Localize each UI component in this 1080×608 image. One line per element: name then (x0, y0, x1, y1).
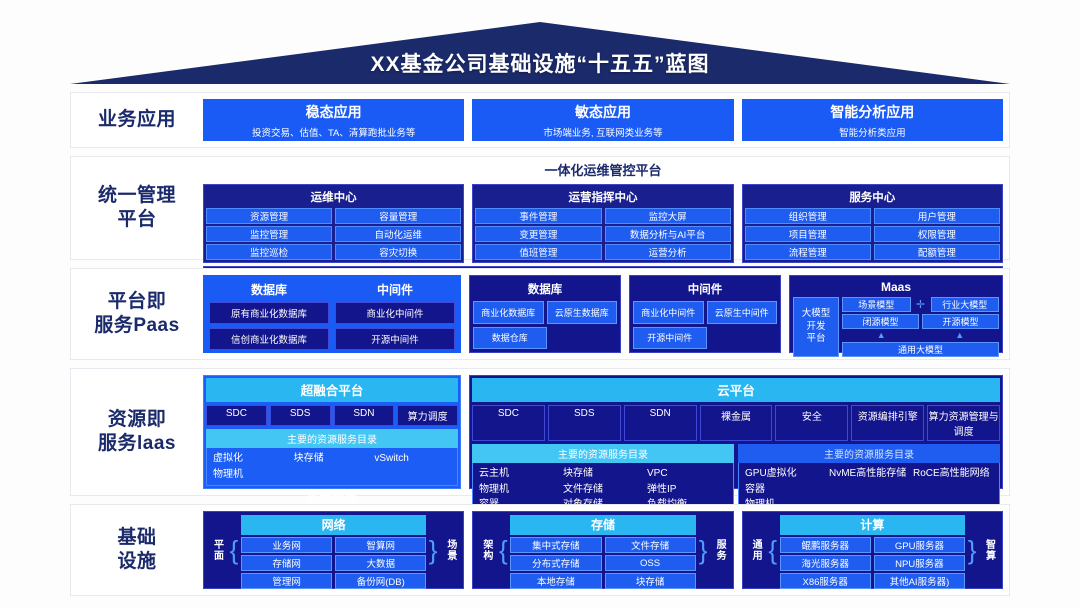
center-chip[interactable]: 资源管理 (206, 208, 332, 224)
infrastructure-body: 平面 { 网络 业务网 智算网 存储网 大数据 管理网 (203, 505, 1009, 595)
row-label-line1: 基础 (117, 526, 156, 550)
maas-item-industry-model[interactable]: 行业大模型 (931, 297, 1000, 312)
infra-chip[interactable]: 集中式存储 (510, 537, 601, 553)
paas-item[interactable]: 数据仓库 (473, 327, 547, 350)
paas-column-title: 中间件 (335, 278, 455, 302)
cloud-capability[interactable]: SDS (548, 405, 621, 441)
brace-left-icon: { (496, 515, 510, 585)
center-chip[interactable]: 值班管理 (475, 244, 601, 260)
row-infrastructure-as-a-service: 资源即 服务laas 超融合平台 SDC SDS SDN 算力调度 主要的资源服… (70, 368, 1010, 496)
paas-column-items: 原有商业化数据库 信创商业化数据库 (209, 302, 329, 350)
cloud-capability-row: SDC SDS SDN 裸金属 安全 资源编排引擎 算力资源管理与调度 (472, 402, 1000, 444)
app-subtitle: 智能分析类应用 (839, 125, 906, 139)
hci-catalog-item: 物理机 (213, 468, 290, 482)
paas-item[interactable]: 商业化中间件 (633, 301, 704, 324)
app-card-stable[interactable]: 稳态应用 投资交易、估值、TA、清算跑批业务等 (203, 99, 464, 141)
cloud-catalog-item: 云主机 (479, 467, 559, 481)
paas-group-row: 商业化中间件 云原生中间件 (633, 301, 777, 324)
center-items: 事件管理 监控大屏 变更管理 数据分析与AI平台 值班管理 运营分析 (475, 208, 730, 260)
title-roof: XX基金公司基础设施“十五五”蓝图 (70, 22, 1010, 84)
infra-row: 鲲鹏服务器 GPU服务器 (780, 537, 965, 553)
iaas-body: 超融合平台 SDC SDS SDN 算力调度 主要的资源服务目录 虚拟化 物理机… (203, 369, 1009, 495)
paas-row-spacer (550, 327, 618, 350)
cloud-capability[interactable]: 算力资源管理与调度 (927, 405, 1000, 441)
maas-side-line3: 平台 (802, 333, 831, 346)
cloud-capability[interactable]: SDN (624, 405, 697, 441)
paas-item[interactable]: 商业化中间件 (335, 302, 455, 324)
infra-title: 存储 (510, 515, 695, 535)
paas-group-row: 数据仓库 (473, 327, 617, 350)
hci-catalog-column: 虚拟化 物理机 (213, 452, 290, 481)
center-chip[interactable]: 容灾切换 (335, 244, 461, 260)
infra-storage-content: 存储 集中式存储 文件存储 分布式存储 OSS 本地存储 块存储 (510, 515, 695, 585)
infra-row: 分布式存储 OSS (510, 555, 695, 571)
infra-left-label: 通用 (746, 515, 766, 585)
maas-row-source: 闭源模型 开源模型 (842, 314, 999, 329)
center-row: 值班管理 运营分析 (475, 244, 730, 260)
maas-body: 大模型 开发 平台 场景模型 ✛ 行业大模型 闭源模型 (793, 297, 999, 357)
paas-group-row: 开源中间件 (633, 327, 777, 350)
paas-database-group: 数据库 商业化数据库 云原生数据库 数据仓库 (469, 275, 621, 353)
hci-capability-row: SDC SDS SDN 算力调度 (206, 402, 458, 429)
infra-items: 鲲鹏服务器 GPU服务器 海光服务器 NPU服务器 X86服务器 其他AI服务器… (780, 537, 965, 589)
blueprint-page: XX基金公司基础设施“十五五”蓝图 业务应用 稳态应用 投资交易、估值、TA、清… (0, 0, 1080, 608)
integrated-platform-title: 一体化运维管控平台 (203, 159, 1003, 181)
center-chip[interactable]: 监控巡检 (206, 244, 332, 260)
cloud-capability[interactable]: 裸金属 (700, 405, 773, 441)
infra-title: 计算 (780, 515, 965, 535)
app-subtitle: 市场端业务, 互联网类业务等 (543, 125, 662, 139)
brace-right-icon: { (965, 515, 979, 585)
infra-left-label: 架构 (476, 515, 496, 585)
center-chip[interactable]: 监控管理 (206, 226, 332, 242)
maas-item-closed-source-model[interactable]: 闭源模型 (842, 314, 919, 329)
infra-chip[interactable]: 备份网(DB) (335, 573, 426, 589)
maas-row-scene: 场景模型 ✛ 行业大模型 (842, 297, 999, 312)
infra-chip[interactable]: 业务网 (241, 537, 332, 553)
hci-title: 超融合平台 (206, 378, 458, 402)
row-unified-management-platform: 统一管理 平台 一体化运维管控平台 运维中心 资源管理 容量管理 监控管理 (70, 156, 1010, 260)
maas-row-general: 通用大模型 (842, 342, 999, 357)
hci-capability[interactable]: SDC (206, 405, 267, 426)
row-label-unified-management-platform: 统一管理 平台 (71, 157, 203, 259)
center-chip[interactable]: 监控大屏 (605, 208, 731, 224)
row-label-line2: 平台 (98, 208, 176, 232)
cloud-catalog-item: 文件存储 (563, 483, 643, 497)
hci-capability[interactable]: SDN (334, 405, 395, 426)
row-label-line1: 资源即 (98, 408, 176, 432)
infra-chip[interactable]: X86服务器 (780, 573, 871, 589)
cloud-title: 云平台 (472, 378, 1000, 402)
infra-row: 海光服务器 NPU服务器 (780, 555, 965, 571)
paas-item[interactable]: 云原生中间件 (707, 301, 778, 324)
brace-left-icon: { (766, 515, 780, 585)
row-label-line1: 统一管理 (98, 184, 176, 208)
infra-chip[interactable]: OSS (605, 555, 696, 571)
hci-catalog-item: 虚拟化 (213, 452, 290, 466)
infra-row: 存储网 大数据 (241, 555, 426, 571)
business-applications-body: 稳态应用 投资交易、估值、TA、清算跑批业务等 敏态应用 市场端业务, 互联网类… (203, 93, 1009, 147)
row-label-line2: 服务Paas (94, 314, 179, 338)
hci-catalog-body: 虚拟化 物理机 块存储 vSwitch (206, 448, 458, 486)
cloud-catalog-title: 主要的资源服务目录 (472, 444, 734, 463)
row-infrastructure: 基础 设施 平面 { 网络 业务网 智算网 存储网 (70, 504, 1010, 596)
hci-capability[interactable]: SDS (270, 405, 331, 426)
brace-right-icon: { (426, 515, 440, 585)
paas-item[interactable]: 开源中间件 (335, 328, 455, 350)
maas-arrows: ▲ ▲ (842, 331, 999, 340)
infra-chip[interactable]: 本地存储 (510, 573, 601, 589)
infra-row: 本地存储 块存储 (510, 573, 695, 589)
center-service[interactable]: 服务中心 组织管理 用户管理 项目管理 权限管理 流程管理 配额管理 (742, 184, 1003, 263)
app-card-agile[interactable]: 敏态应用 市场端业务, 互联网类业务等 (472, 99, 733, 141)
cloud-catalog-item: RoCE高性能网络 (913, 467, 993, 481)
infra-chip[interactable]: 鲲鹏服务器 (780, 537, 871, 553)
hci-catalog-item: vSwitch (374, 452, 451, 466)
brace-right-icon: { (696, 515, 710, 585)
cloud-capability[interactable]: 安全 (775, 405, 848, 441)
row-label-line2: 设施 (117, 550, 156, 574)
arrow-up-icon: ▲ (921, 331, 1000, 340)
infra-chip[interactable]: 智算网 (335, 537, 426, 553)
center-items: 资源管理 容量管理 监控管理 自动化运维 监控巡检 容灾切换 (206, 208, 461, 260)
infra-chip[interactable]: 管理网 (241, 573, 332, 589)
paas-left-columns: 数据库 原有商业化数据库 信创商业化数据库 中间件 商业化中间件 开源中间件 (206, 278, 458, 350)
row-label-iaas: 资源即 服务laas (71, 369, 203, 495)
infra-chip[interactable]: 其他AI服务器) (874, 573, 965, 589)
infra-row: 业务网 智算网 (241, 537, 426, 553)
center-items: 组织管理 用户管理 项目管理 权限管理 流程管理 配额管理 (745, 208, 1000, 260)
row-label-infrastructure: 基础 设施 (71, 505, 203, 595)
infra-right-label: 服务 (710, 515, 730, 585)
infra-chip[interactable]: 海光服务器 (780, 555, 871, 571)
center-row: 事件管理 监控大屏 (475, 208, 730, 224)
center-chip[interactable]: 权限管理 (874, 226, 1000, 242)
center-row: 资源管理 容量管理 (206, 208, 461, 224)
paas-group-items: 商业化数据库 云原生数据库 数据仓库 (473, 301, 617, 349)
infra-chip[interactable]: NPU服务器 (874, 555, 965, 571)
infra-chip[interactable]: 存储网 (241, 555, 332, 571)
paas-group-items: 商业化中间件 云原生中间件 开源中间件 (633, 301, 777, 349)
infra-items: 集中式存储 文件存储 分布式存储 OSS 本地存储 块存储 (510, 537, 695, 589)
infra-row: 集中式存储 文件存储 (510, 537, 695, 553)
cloud-platform: 云平台 SDC SDS SDN 裸金属 安全 资源编排引擎 算力资源管理与调度 … (469, 375, 1003, 489)
maas-title: Maas (793, 279, 999, 297)
unified-management-body: 一体化运维管控平台 运维中心 资源管理 容量管理 监控管理 自动化运维 (203, 157, 1009, 259)
center-row: 项目管理 权限管理 (745, 226, 1000, 242)
plus-icon: ✛ (914, 297, 928, 312)
center-row: 监控管理 自动化运维 (206, 226, 461, 242)
center-ops[interactable]: 运维中心 资源管理 容量管理 监控管理 自动化运维 监控巡检 容灾切换 (203, 184, 464, 263)
center-operations-command[interactable]: 运营指挥中心 事件管理 监控大屏 变更管理 数据分析与AI平台 值班管理 运营分 (472, 184, 733, 263)
center-chip[interactable]: 流程管理 (745, 244, 871, 260)
center-chip[interactable]: 项目管理 (745, 226, 871, 242)
cloud-catalog-item: 块存储 (563, 467, 643, 481)
infra-card-compute: 通用 { 计算 鲲鹏服务器 GPU服务器 海光服务器 NPU服务器 (742, 511, 1003, 589)
center-chip[interactable]: 数据分析与AI平台 (605, 226, 731, 242)
maas-item-general-model[interactable]: 通用大模型 (842, 342, 999, 357)
paas-row-spacer (710, 327, 778, 350)
paas-item[interactable]: 信创商业化数据库 (209, 328, 329, 350)
center-row: 变更管理 数据分析与AI平台 (475, 226, 730, 242)
infra-items: 业务网 智算网 存储网 大数据 管理网 备份网(DB) (241, 537, 426, 589)
app-title: 稳态应用 (306, 102, 362, 122)
center-chip[interactable]: 变更管理 (475, 226, 601, 242)
cloud-catalog-item: 物理机 (479, 483, 559, 497)
center-title: 运营指挥中心 (475, 187, 730, 208)
arrow-up-icon: ▲ (842, 331, 921, 340)
row-label-paas: 平台即 服务Paas (71, 269, 203, 359)
infra-chip[interactable]: 块存储 (605, 573, 696, 589)
center-title: 服务中心 (745, 187, 1000, 208)
maas-item-open-source-model[interactable]: 开源模型 (922, 314, 999, 329)
app-subtitle: 投资交易、估值、TA、清算跑批业务等 (252, 125, 415, 139)
center-chip[interactable]: 容量管理 (335, 208, 461, 224)
paas-item[interactable]: 开源中间件 (633, 327, 707, 350)
infra-left-label: 平面 (207, 515, 227, 585)
paas-body: 数据库 原有商业化数据库 信创商业化数据库 中间件 商业化中间件 开源中间件 (203, 269, 1009, 359)
hci-catalog-item: 块存储 (294, 452, 371, 466)
maas-item-scene-model[interactable]: 场景模型 (842, 297, 911, 312)
infra-network-content: 网络 业务网 智算网 存储网 大数据 管理网 备份网(DB) (241, 515, 426, 585)
paas-item[interactable]: 云原生数据库 (547, 301, 618, 324)
center-chip[interactable]: 自动化运维 (335, 226, 461, 242)
maas-model-dev-platform[interactable]: 大模型 开发 平台 (793, 297, 839, 357)
cloud-catalog-item: 弹性IP (647, 483, 727, 497)
row-label-business-applications: 业务应用 (71, 93, 203, 147)
infra-card-storage: 架构 { 存储 集中式存储 文件存储 分布式存储 OSS (472, 511, 733, 589)
cloud-catalog-item: NvME高性能存储 (829, 467, 909, 481)
cloud-capability[interactable]: SDC (472, 405, 545, 441)
infra-chip[interactable]: 分布式存储 (510, 555, 601, 571)
hci-catalog-title: 主要的资源服务目录 (206, 429, 458, 448)
cloud-catalog-item: GPU虚拟化 (745, 467, 825, 481)
center-title: 运维中心 (206, 187, 461, 208)
hci-platform: 超融合平台 SDC SDS SDN 算力调度 主要的资源服务目录 虚拟化 物理机… (203, 375, 461, 489)
row-label-line2: 服务laas (98, 432, 176, 456)
center-chip[interactable]: 事件管理 (475, 208, 601, 224)
app-title: 敏态应用 (575, 102, 631, 122)
hci-capability[interactable]: 算力调度 (397, 405, 458, 426)
infra-right-label: 场景 (440, 515, 460, 585)
maas-side-line1: 大模型 (802, 308, 831, 321)
infra-chip[interactable]: GPU服务器 (874, 537, 965, 553)
page-title: XX基金公司基础设施“十五五”蓝图 (70, 48, 1010, 78)
infra-row: 管理网 备份网(DB) (241, 573, 426, 589)
paas-group-title: 数据库 (473, 279, 617, 301)
center-chip[interactable]: 运营分析 (605, 244, 731, 260)
row-platform-as-a-service: 平台即 服务Paas 数据库 原有商业化数据库 信创商业化数据库 中间件 (70, 268, 1010, 360)
paas-item[interactable]: 原有商业化数据库 (209, 302, 329, 324)
cloud-catalog-item: VPC (647, 467, 727, 481)
app-card-intelligent-analysis[interactable]: 智能分析应用 智能分析类应用 (742, 99, 1003, 141)
hci-catalog-column: 块存储 (294, 452, 371, 481)
paas-middleware-group: 中间件 商业化中间件 云原生中间件 开源中间件 (629, 275, 781, 353)
center-row: 流程管理 配额管理 (745, 244, 1000, 260)
cloud-catalog-title: 主要的资源服务目录 (738, 444, 1000, 463)
center-chip[interactable]: 用户管理 (874, 208, 1000, 224)
center-chip[interactable]: 组织管理 (745, 208, 871, 224)
paas-item[interactable]: 商业化数据库 (473, 301, 544, 324)
center-row: 监控巡检 容灾切换 (206, 244, 461, 260)
center-chip[interactable]: 配额管理 (874, 244, 1000, 260)
maas-side-line2: 开发 (802, 321, 831, 334)
paas-maas-group: Maas 大模型 开发 平台 场景模型 ✛ 行业大模型 (789, 275, 1003, 353)
row-business-applications: 业务应用 稳态应用 投资交易、估值、TA、清算跑批业务等 敏态应用 市场端业务,… (70, 92, 1010, 148)
cloud-capability[interactable]: 资源编排引擎 (851, 405, 924, 441)
management-centers: 运维中心 资源管理 容量管理 监控管理 自动化运维 监控巡检 容灾切换 (203, 184, 1003, 263)
paas-column-middleware: 中间件 商业化中间件 开源中间件 (332, 278, 458, 350)
paas-column-database: 数据库 原有商业化数据库 信创商业化数据库 (206, 278, 332, 350)
infra-right-label: 智算 (979, 515, 999, 585)
paas-group-row: 商业化数据库 云原生数据库 (473, 301, 617, 324)
center-row: 组织管理 用户管理 (745, 208, 1000, 224)
infra-card-network: 平面 { 网络 业务网 智算网 存储网 大数据 管理网 (203, 511, 464, 589)
infra-row: X86服务器 其他AI服务器) (780, 573, 965, 589)
maas-model-stack: 场景模型 ✛ 行业大模型 闭源模型 开源模型 ▲ ▲ (842, 297, 999, 357)
infra-compute-content: 计算 鲲鹏服务器 GPU服务器 海光服务器 NPU服务器 X86服务器 其他AI (780, 515, 965, 585)
paas-stable-group: 数据库 原有商业化数据库 信创商业化数据库 中间件 商业化中间件 开源中间件 (203, 275, 461, 353)
app-title: 智能分析应用 (830, 102, 914, 122)
paas-group-title: 中间件 (633, 279, 777, 301)
infra-chip[interactable]: 文件存储 (605, 537, 696, 553)
paas-column-items: 商业化中间件 开源中间件 (335, 302, 455, 350)
cloud-catalog-item: 容器 (745, 483, 825, 497)
paas-column-title: 数据库 (209, 278, 329, 302)
infra-title: 网络 (241, 515, 426, 535)
row-label-line1: 平台即 (94, 290, 179, 314)
infra-chip[interactable]: 大数据 (335, 555, 426, 571)
hci-catalog-column: vSwitch (374, 452, 451, 481)
brace-left-icon: { (227, 515, 241, 585)
